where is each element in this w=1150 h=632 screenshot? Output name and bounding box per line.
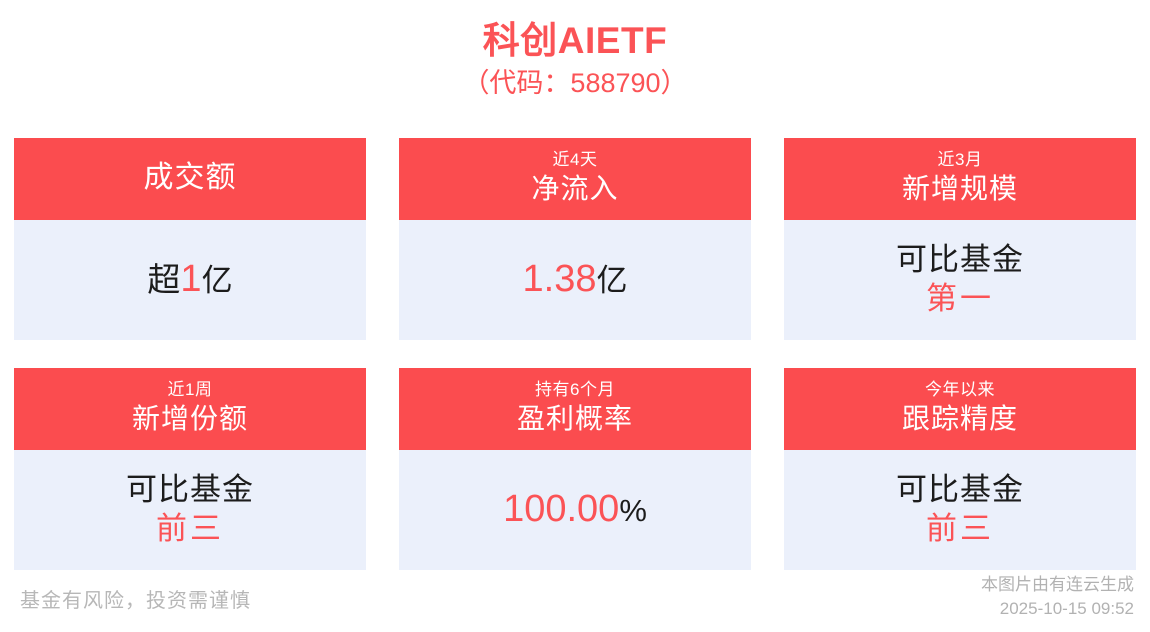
card-header-title: 新增规模 bbox=[902, 172, 1018, 206]
metric-card-tracking-accuracy: 今年以来 跟踪精度 可比基金 前三 bbox=[784, 368, 1136, 570]
metric-rank: 第一 bbox=[926, 280, 994, 319]
generation-source: 本图片由有连云生成 bbox=[981, 573, 1134, 598]
metric-context: 可比基金 bbox=[896, 241, 1024, 280]
metric-suffix: 亿 bbox=[596, 263, 627, 299]
card-header-period: 今年以来 bbox=[925, 379, 995, 402]
card-header-title: 跟踪精度 bbox=[902, 402, 1018, 436]
card-header-title: 成交额 bbox=[144, 160, 237, 197]
card-header: 今年以来 跟踪精度 bbox=[784, 368, 1136, 450]
generation-info: 本图片由有连云生成 2025-10-15 09:52 bbox=[981, 573, 1134, 622]
card-header-period: 持有6个月 bbox=[535, 379, 615, 402]
metric-card-net-inflow: 近4天 净流入 1.38亿 bbox=[399, 138, 751, 340]
metric-rank: 前三 bbox=[156, 510, 224, 549]
card-header: 成交额 bbox=[14, 138, 366, 220]
card-header-period: 近1周 bbox=[168, 379, 213, 402]
metric-card-scale-growth: 近3月 新增规模 可比基金 第一 bbox=[784, 138, 1136, 340]
metric-value: 超1亿 bbox=[147, 258, 232, 302]
card-header-period: 近4天 bbox=[553, 149, 598, 172]
metric-number: 100.00 bbox=[503, 488, 619, 532]
metric-card-grid: 成交额 超1亿 近4天 净流入 1.38亿 近3月 新增规模 可比基金 第一 bbox=[14, 138, 1136, 570]
card-header-period: 近3月 bbox=[938, 149, 983, 172]
card-header-title: 新增份额 bbox=[132, 402, 248, 436]
metric-context: 可比基金 bbox=[896, 471, 1024, 510]
metric-value: 100.00% bbox=[503, 488, 647, 532]
metric-card-profit-probability: 持有6个月 盈利概率 100.00% bbox=[399, 368, 751, 570]
card-header: 近4天 净流入 bbox=[399, 138, 751, 220]
card-header-title: 盈利概率 bbox=[517, 402, 633, 436]
metric-suffix: % bbox=[619, 493, 647, 529]
metric-card-share-growth: 近1周 新增份额 可比基金 前三 bbox=[14, 368, 366, 570]
title-block: 科创AIETF （代码：588790） bbox=[0, 0, 1150, 100]
metric-card-turnover: 成交额 超1亿 bbox=[14, 138, 366, 340]
card-body: 1.38亿 bbox=[399, 220, 751, 340]
card-body: 可比基金 前三 bbox=[784, 450, 1136, 570]
card-header-title: 净流入 bbox=[531, 172, 618, 206]
metric-number: 1.38 bbox=[523, 258, 597, 302]
metric-context: 可比基金 bbox=[126, 471, 254, 510]
metric-suffix: 亿 bbox=[202, 263, 233, 299]
card-body: 超1亿 bbox=[14, 220, 366, 340]
fund-code: （代码：588790） bbox=[0, 63, 1150, 100]
metric-rank: 前三 bbox=[926, 510, 994, 549]
card-body: 100.00% bbox=[399, 450, 751, 570]
metric-value: 1.38亿 bbox=[523, 258, 628, 302]
card-body: 可比基金 第一 bbox=[784, 220, 1136, 340]
metric-number: 1 bbox=[180, 258, 201, 302]
metric-prefix: 超 bbox=[147, 261, 180, 299]
card-body: 可比基金 前三 bbox=[14, 450, 366, 570]
card-header: 近1周 新增份额 bbox=[14, 368, 366, 450]
generation-timestamp: 2025-10-15 09:52 bbox=[981, 597, 1134, 622]
card-header: 持有6个月 盈利概率 bbox=[399, 368, 751, 450]
risk-disclaimer: 基金有风险，投资需谨慎 bbox=[20, 588, 251, 614]
page-title: 科创AIETF bbox=[0, 0, 1150, 63]
card-header: 近3月 新增规模 bbox=[784, 138, 1136, 220]
